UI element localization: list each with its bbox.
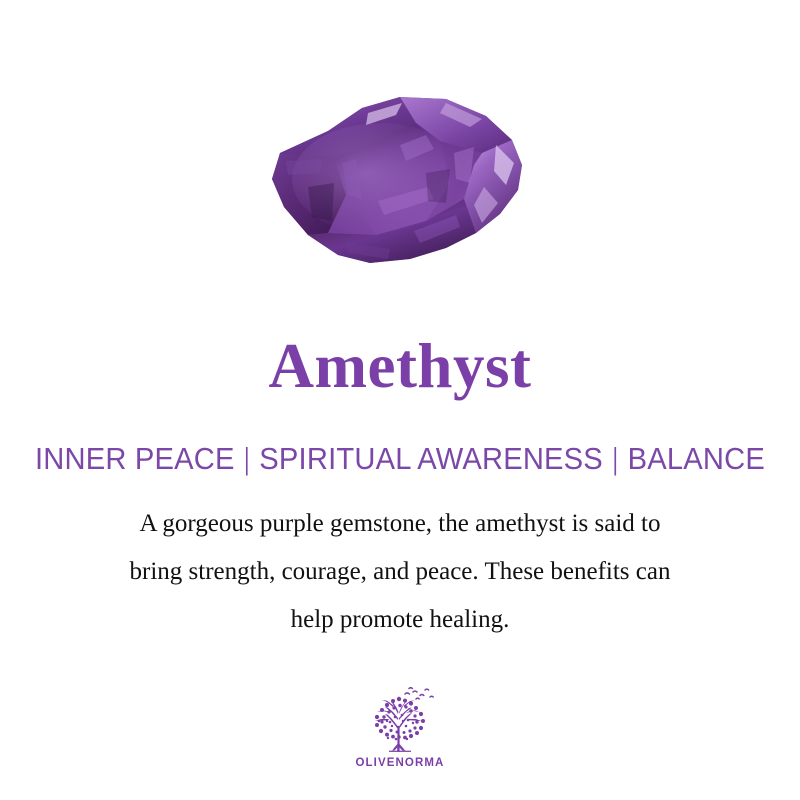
keyword-separator: | (607, 441, 624, 477)
description-line: bring strength, courage, and peace. Thes… (60, 548, 740, 596)
keyword-line: INNER PEACE|SPIRITUAL AWARENESS|BALANCE (24, 441, 776, 477)
description-line: help promote healing. (60, 596, 740, 644)
page-title: Amethyst (0, 333, 800, 399)
hero-image-area (0, 70, 800, 310)
brand-wordmark: OLIVENORMA (356, 757, 445, 769)
keyword-inner-peace: INNER PEACE (35, 441, 235, 476)
amethyst-info-card: Amethyst INNER PEACE|SPIRITUAL AWARENESS… (0, 0, 800, 800)
keyword-separator: | (238, 441, 255, 477)
amethyst-crystal-image (250, 83, 550, 298)
birds-icon (405, 688, 433, 699)
brand-logo: OLIVENORMA (0, 686, 800, 769)
keyword-spiritual-awareness: SPIRITUAL AWARENESS (259, 441, 603, 476)
keyword-balance: BALANCE (628, 441, 765, 476)
description-line: A gorgeous purple gemstone, the amethyst… (60, 500, 740, 548)
description-text: A gorgeous purple gemstone, the amethyst… (60, 500, 740, 644)
tree-of-life-icon (361, 686, 439, 754)
amethyst-crystal-icon (250, 83, 550, 298)
